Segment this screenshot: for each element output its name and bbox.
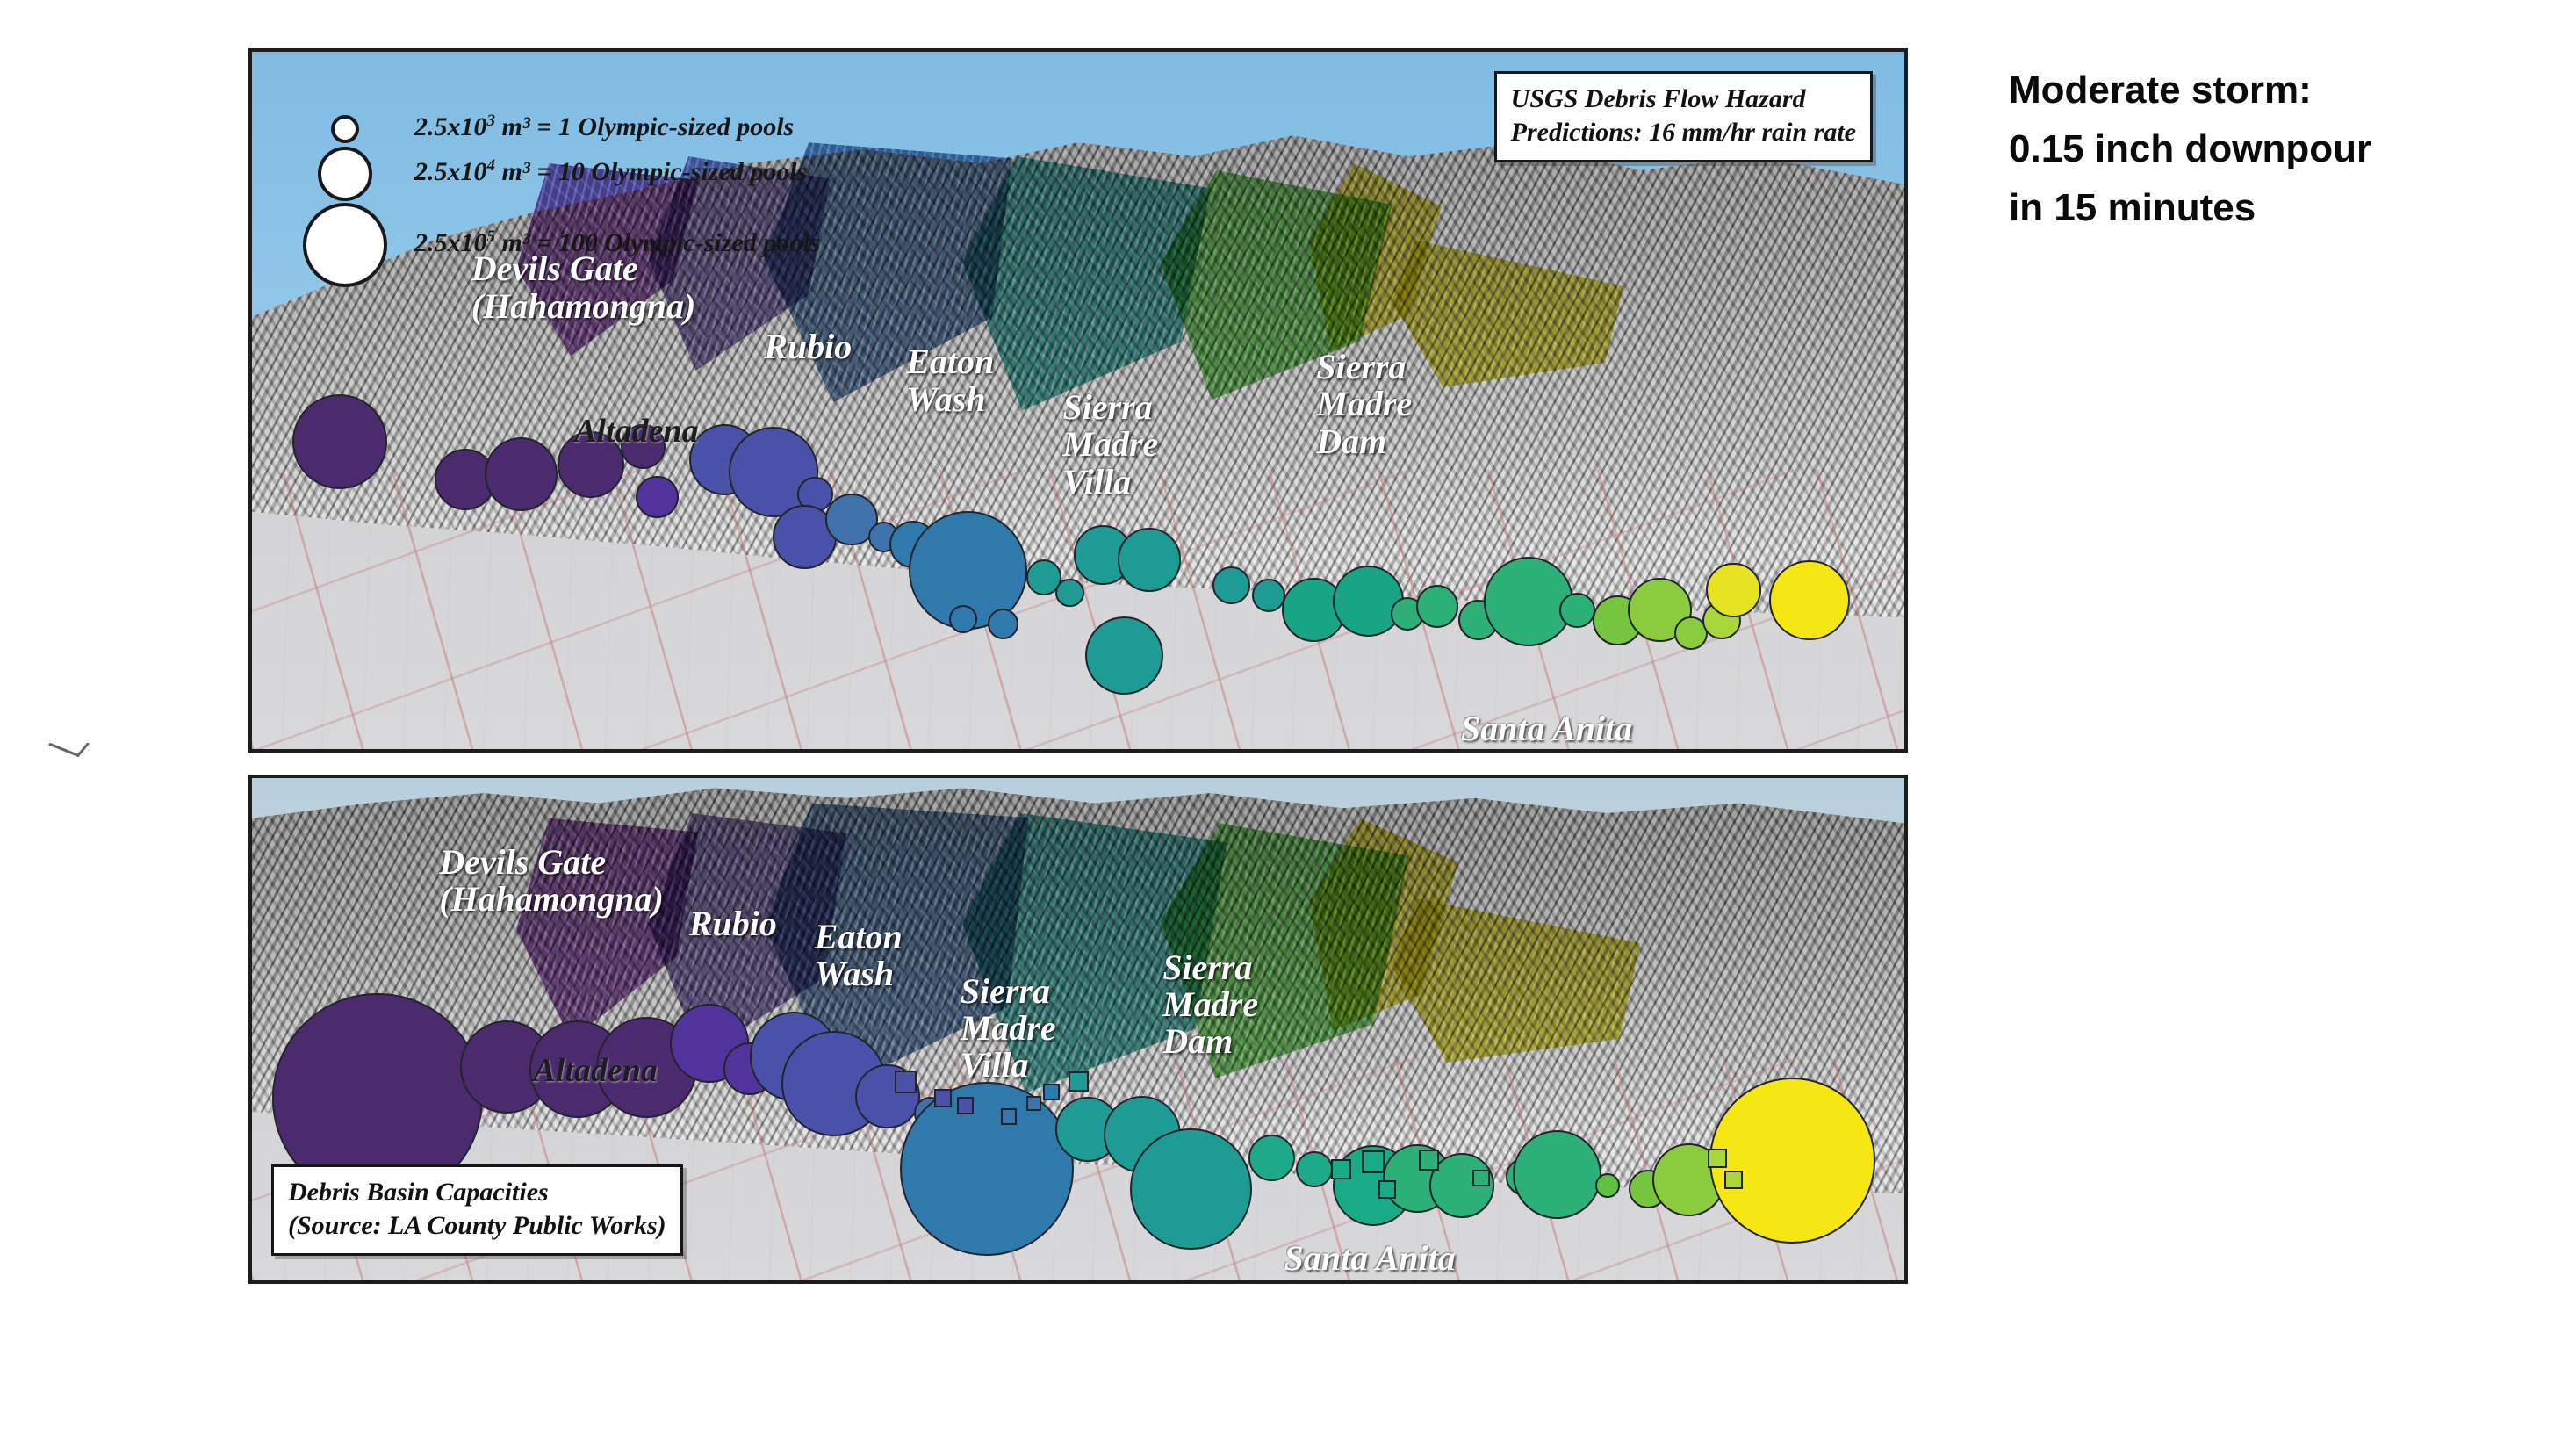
debris-volume-bubble [1118, 528, 1182, 592]
debris-volume-bubble [1706, 563, 1760, 617]
storm-description-caption: Moderate storm: 0.15 inch downpour in 15… [2009, 61, 2536, 238]
debris-volume-bubble [1333, 566, 1404, 637]
debris-volume-bubble [1130, 1128, 1251, 1250]
bottom-panel-basin-capacities: Devils Gate (Hahamongna)RubioAltadenaEat… [248, 775, 1908, 1284]
usgs-prediction-caption: USGS Debris Flow Hazard Predictions: 16 … [1494, 71, 1873, 162]
legend-label-2: 2.5x104 m³ = 10 Olympic-sized pools [414, 156, 807, 187]
debris-volume-bubble [1513, 1130, 1601, 1219]
cursor-artifact [48, 732, 90, 757]
debris-basin-square [934, 1089, 953, 1107]
legend-circle-1 [331, 115, 359, 143]
debris-volume-bubble [292, 394, 387, 489]
legend-circle-2 [318, 147, 372, 201]
debris-volume-bubble [1085, 616, 1163, 695]
debris-volume-bubble [900, 1082, 1074, 1256]
debris-volume-bubble [636, 476, 679, 519]
debris-volume-bubble [1484, 557, 1574, 647]
figure-root: Devils Gate (Hahamongna)RubioAltadenaEat… [0, 0, 2576, 1449]
debris-volume-bubble [1212, 566, 1250, 604]
legend-circle-3 [303, 203, 387, 287]
debris-volume-bubble [1595, 1173, 1620, 1198]
debris-volume-bubble [1559, 593, 1595, 629]
debris-volume-bubble [1055, 579, 1083, 607]
debris-basin-square [1362, 1150, 1385, 1174]
debris-basin-square [1043, 1084, 1061, 1101]
legend-label-1: 2.5x103 m³ = 1 Olympic-sized pools [414, 112, 794, 142]
legend-label-3: 2.5x105 m³ = 100 Olympic-sized pools [414, 227, 820, 258]
debris-basin-square [1331, 1159, 1351, 1179]
volume-scale-legend: 2.5x103 m³ = 1 Olympic-sized pools2.5x10… [270, 61, 902, 315]
debris-volume-bubble [485, 437, 558, 511]
debris-volume-bubble [1296, 1151, 1332, 1187]
debris-basin-square [1419, 1150, 1439, 1170]
debris-basin-square [1724, 1171, 1743, 1189]
debris-volume-bubble [1709, 1078, 1875, 1244]
debris-volume-bubble [1416, 585, 1459, 628]
debris-volume-bubble [949, 605, 977, 633]
debris-volume-bubble [1252, 579, 1285, 612]
debris-basin-square [895, 1071, 917, 1092]
debris-volume-bubble [558, 431, 624, 498]
debris-basin-square [1069, 1071, 1089, 1092]
debris-basin-square [957, 1097, 975, 1114]
debris-basin-square [1472, 1170, 1490, 1187]
top-panel-usgs-predictions: Devils Gate (Hahamongna)RubioAltadenaEat… [248, 48, 1908, 753]
debris-basin-square [1378, 1180, 1397, 1199]
debris-basin-square [1708, 1149, 1727, 1168]
debris-volume-bubble [1769, 560, 1850, 641]
debris-basin-square [1001, 1108, 1017, 1124]
debris-basin-square [1026, 1096, 1041, 1111]
debris-basin-caption: Debris Basin Capacities (Source: LA Coun… [271, 1164, 683, 1256]
